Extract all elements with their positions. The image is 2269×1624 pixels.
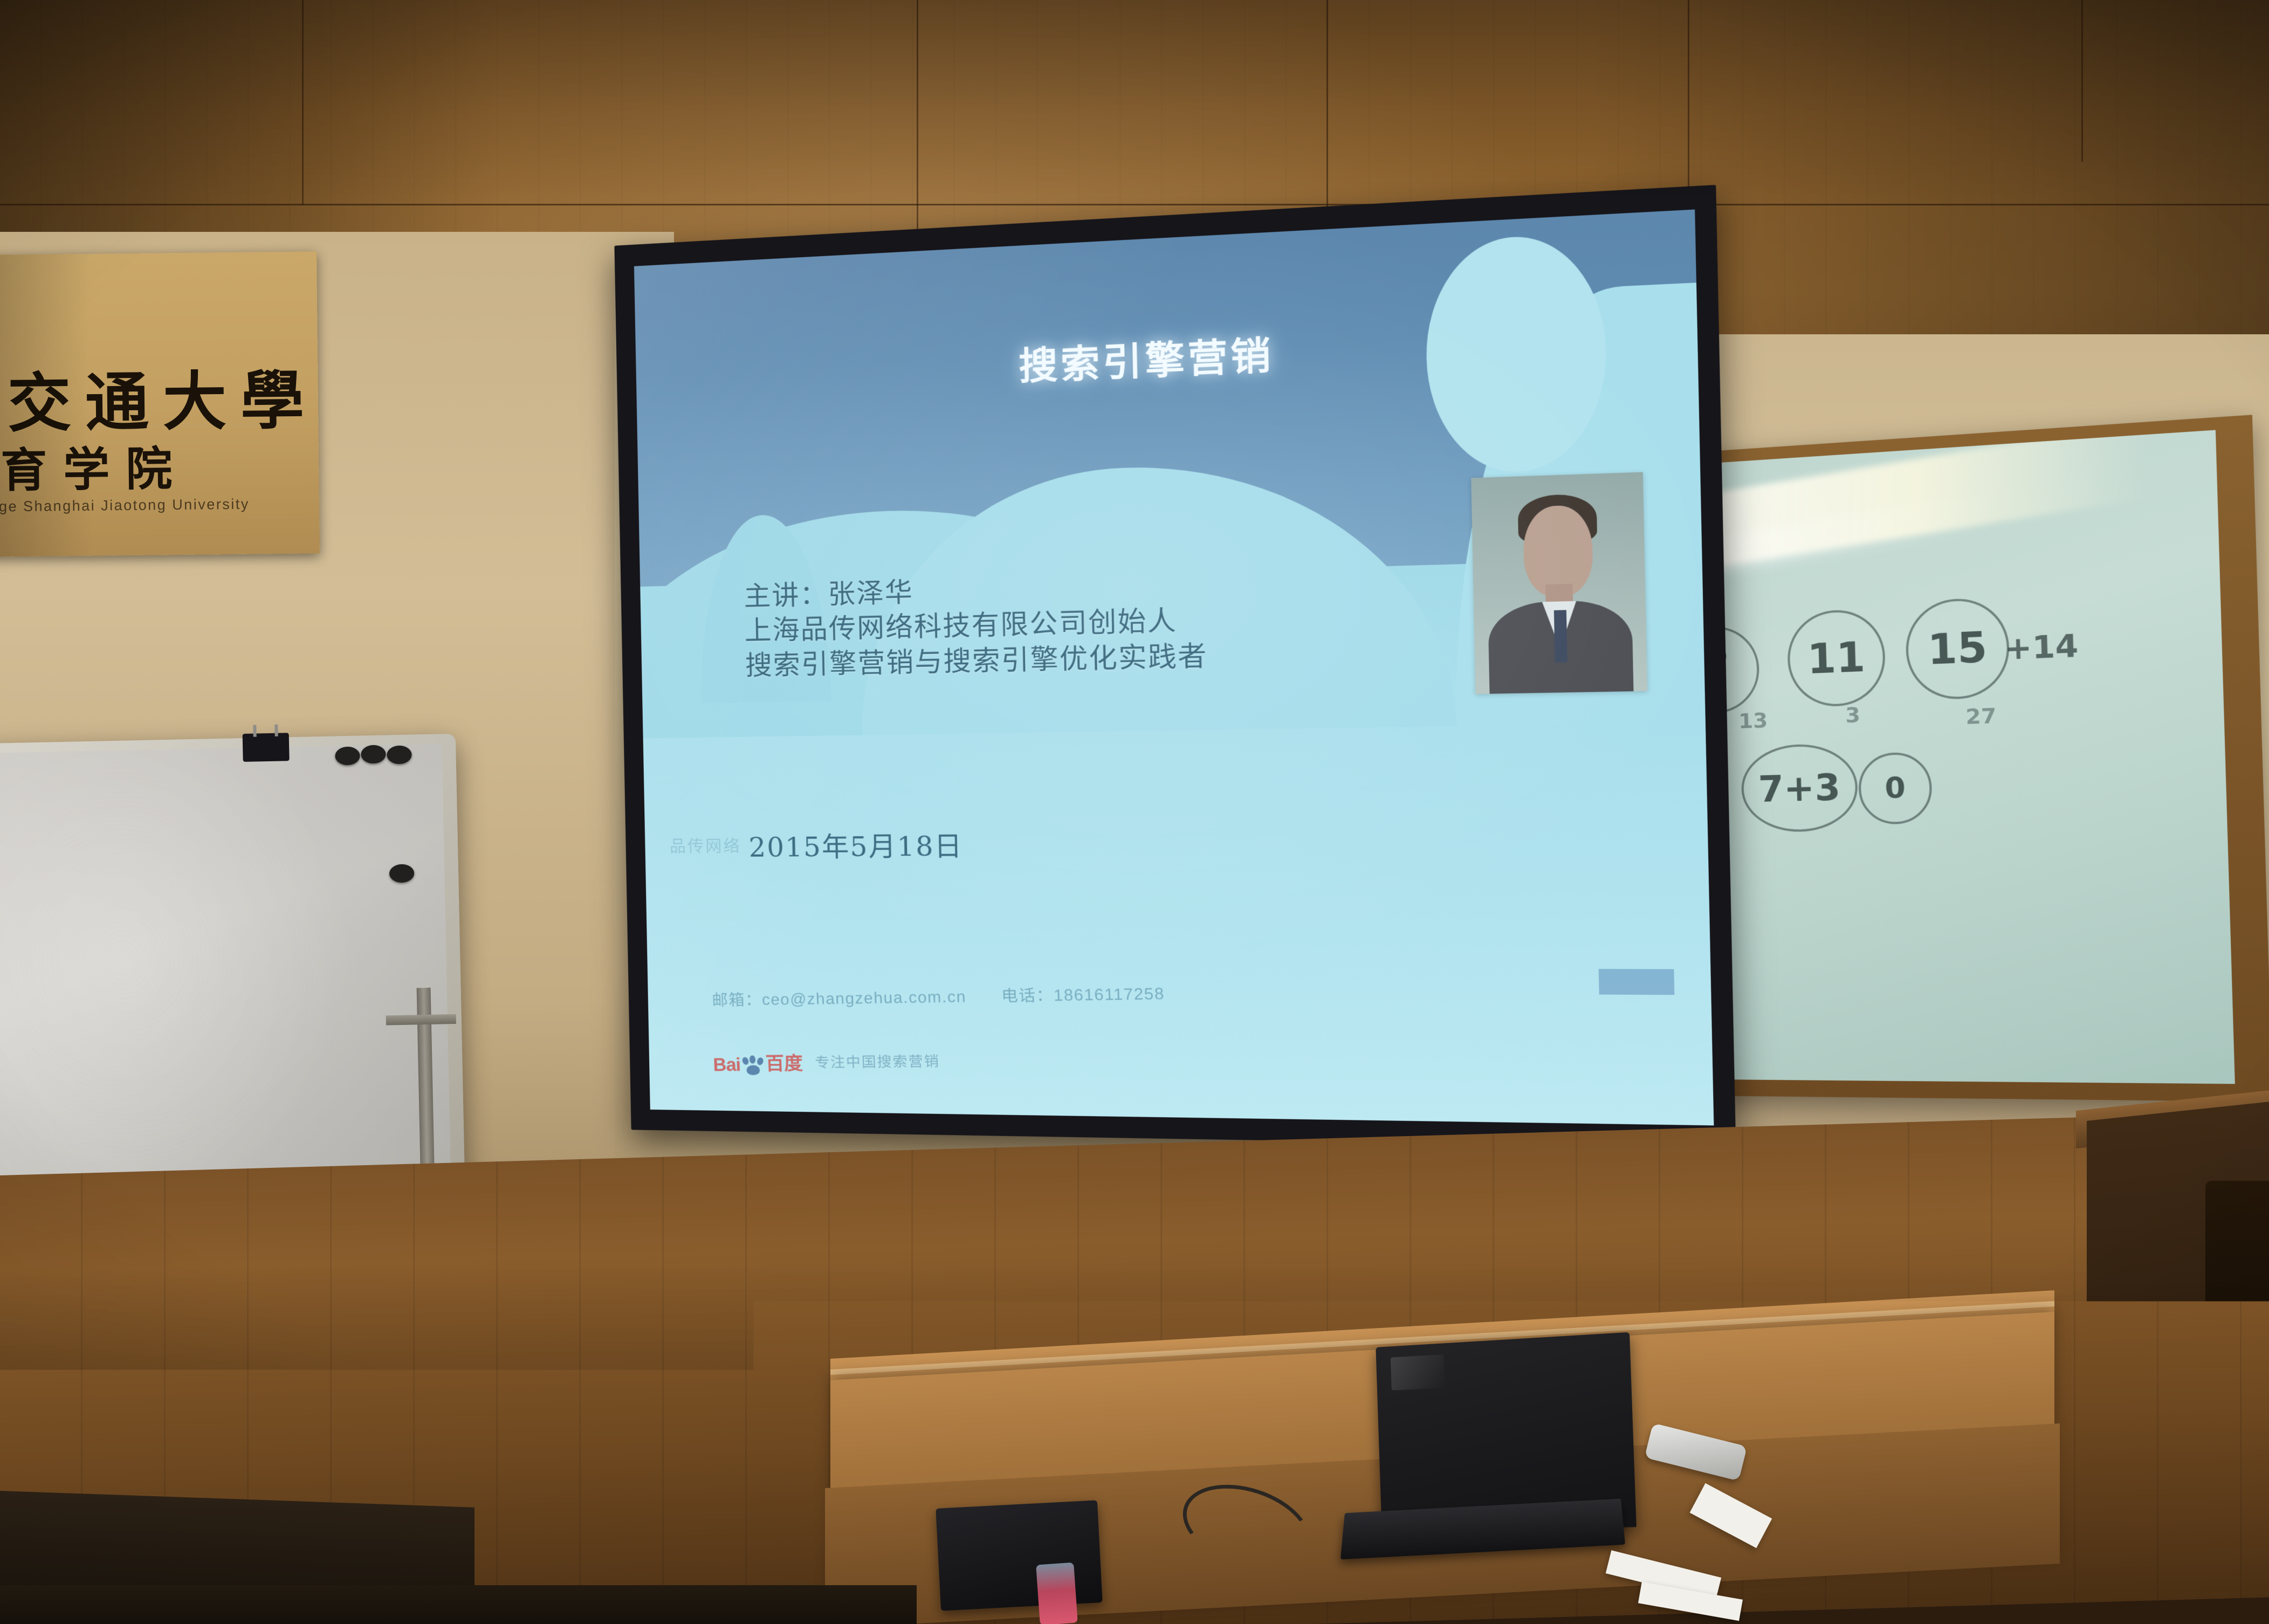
slide-corner-badge [1598,969,1674,995]
speaker-portrait-photo [1472,472,1647,694]
whiteboard-crossbar [386,1014,456,1026]
slide-email-group: 邮箱：ceo@zhangzehua.com.cn [712,983,967,1010]
slide-email-value: ceo@zhangzehua.com.cn [762,988,967,1009]
board-note-circled: 15 [1904,596,2010,701]
board-note-circled: 7+3 [1741,742,1859,832]
slide-phone-value: 18616117258 [1054,985,1165,1004]
board-note-circled: 11 [1786,608,1887,708]
board-note-small: 27 [1965,703,1997,729]
wall-seam-vertical [917,0,918,253]
portrait-tie [1554,610,1567,662]
slide-watermark: 品传网络 [669,832,741,856]
baidu-logo-bai-text: Bai [713,1054,741,1076]
baidu-logo-du-text: 百度 [765,1048,803,1075]
board-note-small: 13 [1738,708,1768,733]
projection-screen[interactable]: 搜索引擎营销 主讲：张泽华 上海品传网络科技有限公司创始人 搜索引擎营销与搜索引… [614,185,1736,1148]
chair-backrest [2205,1181,2269,1407]
wall-seam-horizontal [0,204,2269,205]
board-note-plus: +14 [2004,627,2079,667]
university-wall-sign: 海交通大學 教育学院 ult College Shanghai Jiaotong… [0,251,320,557]
baidu-logo: Bai 百度 [713,1048,803,1076]
slide-date: 2015年5月18日 [748,824,964,865]
wall-seam-vertical [302,0,304,205]
slide-phone-group: 电话：18616117258 [1001,980,1165,1006]
projected-slide: 搜索引擎营销 主讲：张泽华 上海品传网络科技有限公司创始人 搜索引擎营销与搜索引… [634,209,1714,1125]
slide-phone-label: 电话： [1001,987,1054,1005]
binder-clip-icon[interactable] [243,733,290,762]
slide-footer: Bai 百度 专注中国搜索营销 [713,1047,941,1076]
photograph-scene: 海交通大學 教育学院 ult College Shanghai Jiaotong… [0,0,2269,1624]
foreground-floor [0,1585,917,1624]
slide-speaker-block: 主讲：张泽华 上海品传网络科技有限公司创始人 搜索引擎营销与搜索引擎优化实践者 [744,561,1417,684]
board-note-circled: 0 [1858,752,1933,825]
small-monitor[interactable] [936,1500,1103,1611]
sign-shadow-overlay [0,251,320,557]
paw-print-icon [741,1056,765,1076]
slide-email-label: 邮箱： [712,991,762,1009]
water-bottle[interactable] [1036,1563,1078,1624]
board-note-small: 3 [1845,703,1861,727]
slide-footer-tagline: 专注中国搜索营销 [815,1050,940,1071]
wall-seam-vertical [2081,0,2083,162]
